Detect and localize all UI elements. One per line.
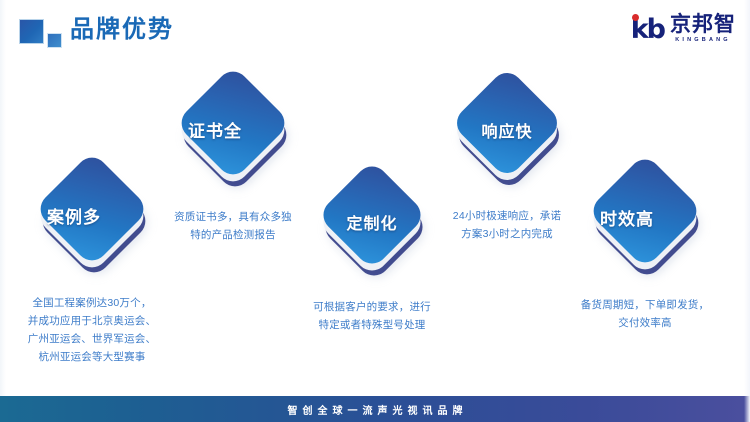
logo-wordmark: 京邦智 KINGBANG <box>670 14 736 44</box>
brand-logo: kb 京邦智 KINGBANG <box>631 13 736 45</box>
advantage-label-3: 定制化 <box>329 210 415 234</box>
advantage-label-4: 响应快 <box>463 118 551 142</box>
footer-slogan: 智创全球一流声光视讯品牌 <box>283 402 468 417</box>
advantage-caption-2: 资质证书多，具有众多独 特的产品检测报告 <box>165 208 301 244</box>
advantage-caption-5: 备货周期短，下单即发货， 交付效率高 <box>572 296 718 332</box>
header-decoration <box>19 19 63 47</box>
logo-dot-icon <box>632 14 639 21</box>
advantage-caption-4: 24小时极速响应，承诺 方案3小时之内完成 <box>436 207 578 243</box>
decorative-square-large-icon <box>19 19 44 44</box>
page-title: 品牌优势 <box>70 14 174 46</box>
logo-pinyin: KINGBANG <box>670 36 736 44</box>
slide-header: 品牌优势 kb 京邦智 KINGBANG <box>0 0 750 58</box>
slide-canvas: 品牌优势 kb 京邦智 KINGBANG 案例多 全国工程案例达30万个， 并成… <box>0 0 750 422</box>
slide-footer: 智创全球一流声光视讯品牌 <box>0 396 750 422</box>
advantage-caption-1: 全国工程案例达30万个， 并成功应用于北京奥运会、 广州亚运会、世界军运会、 杭… <box>24 294 160 366</box>
logo-mark-icon: kb <box>631 16 664 43</box>
logo-chinese-name: 京邦智 <box>670 14 736 35</box>
decorative-square-small-icon <box>47 33 62 48</box>
advantage-caption-3: 可根据客户的要求，进行 特定或者特殊型号处理 <box>304 298 440 334</box>
